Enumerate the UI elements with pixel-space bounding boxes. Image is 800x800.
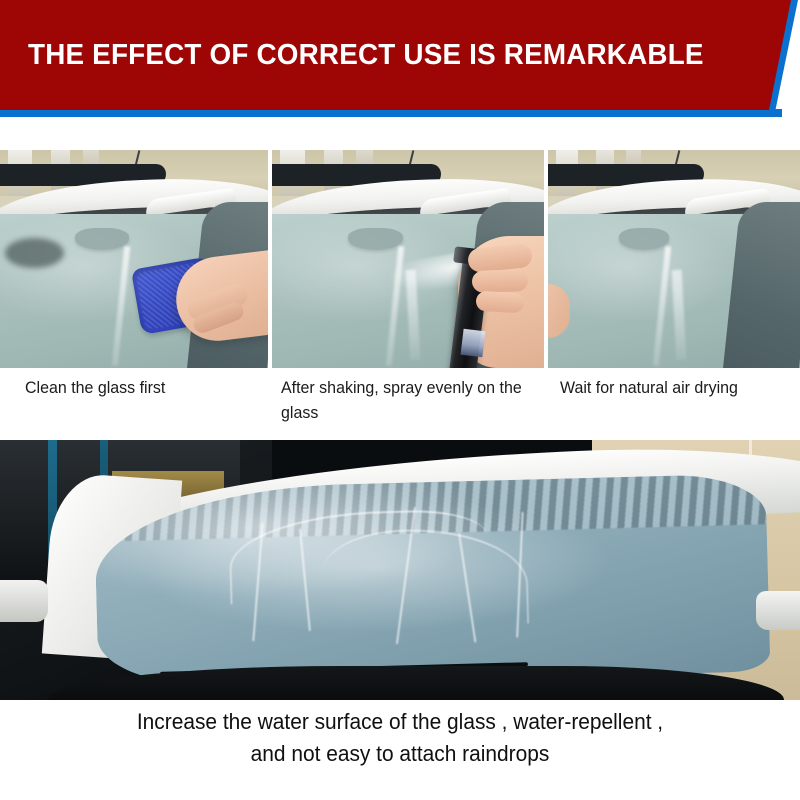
step-captions: Clean the glass first After shaking, spr… bbox=[0, 375, 800, 431]
spray-bottle-label bbox=[460, 329, 485, 357]
hero-image-water-beading bbox=[0, 440, 800, 700]
step-photo-air-drying bbox=[548, 150, 800, 368]
step-photos-row bbox=[0, 150, 800, 368]
finger bbox=[472, 269, 529, 293]
step-photo-spray-evenly bbox=[272, 150, 544, 368]
step-photo-clean-glass bbox=[0, 150, 268, 368]
page-title: THE EFFECT OF CORRECT USE IS REMARKABLE bbox=[28, 0, 704, 110]
step-caption-1: Clean the glass first bbox=[25, 375, 251, 400]
finger bbox=[476, 291, 525, 313]
rearview-mirror-mount bbox=[75, 228, 129, 250]
hero-side-mirror-right bbox=[756, 591, 800, 630]
windshield-scene-2 bbox=[272, 150, 544, 368]
rearview-mirror-mount bbox=[348, 228, 402, 250]
footer-line-1: Increase the water surface of the glass … bbox=[20, 706, 780, 738]
hero-windshield bbox=[94, 473, 771, 688]
windshield-scene-3 bbox=[548, 150, 800, 368]
water-rivulet-arc bbox=[323, 527, 529, 629]
header-banner: THE EFFECT OF CORRECT USE IS REMARKABLE bbox=[0, 0, 800, 120]
windshield-cowl-shadow bbox=[5, 238, 64, 268]
step-caption-2: After shaking, spray evenly on the glass bbox=[281, 375, 527, 425]
footer-description: Increase the water surface of the glass … bbox=[20, 706, 780, 770]
rearview-mirror-mount bbox=[619, 228, 669, 250]
step-caption-3: Wait for natural air drying bbox=[560, 375, 795, 400]
windshield-scene-1 bbox=[0, 150, 268, 368]
hero-side-mirror-left bbox=[0, 580, 48, 622]
footer-line-2: and not easy to attach raindrops bbox=[20, 738, 780, 770]
